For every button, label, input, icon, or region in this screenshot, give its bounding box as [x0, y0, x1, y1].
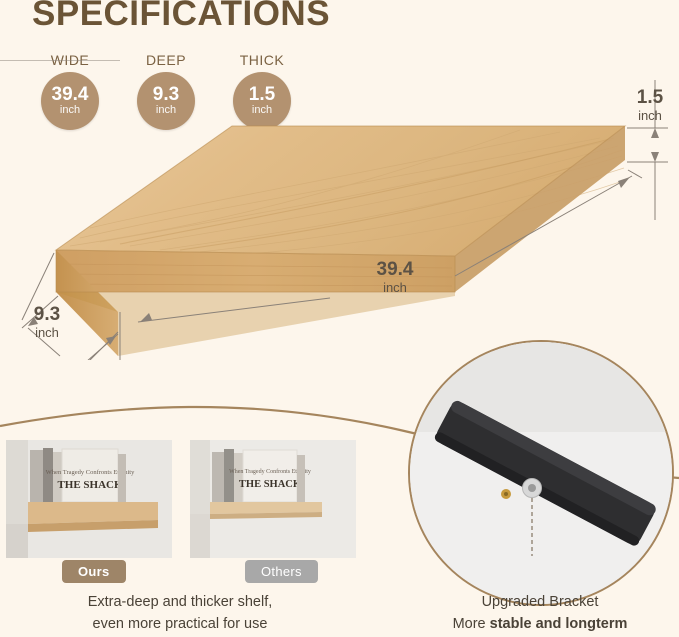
tag-others: Others [245, 560, 318, 583]
dimension-unit: inch [12, 326, 82, 340]
page-title: SPECIFICATIONS [32, 0, 330, 34]
dimension-label-depth: 9.3 inch [12, 305, 82, 340]
bracket-caption-line2-b: stable and longterm [490, 616, 628, 632]
shelf-illustration-svg [0, 60, 679, 360]
dimension-label-thickness: 1.5 inch [627, 88, 673, 123]
comparison-photo-others: When Tragedy Confronts Eternity THE SHAC… [190, 440, 356, 558]
others-shelf-photo: When Tragedy Confronts Eternity THE SHAC… [190, 440, 356, 558]
ours-shelf-photo: When Tragedy Confronts Eternity THE SHAC… [6, 440, 172, 558]
dimension-unit: inch [627, 109, 673, 123]
comparison-photo-ours: When Tragedy Confronts Eternity THE SHAC… [6, 440, 172, 558]
comparison-caption-line1: Extra-deep and thicker shelf, [0, 592, 360, 614]
dimension-value: 9.3 [12, 305, 82, 326]
bracket-photo [410, 342, 672, 604]
svg-text:THE SHACK: THE SHACK [57, 479, 123, 491]
bracket-caption: Upgraded Bracket More stable and longter… [420, 592, 660, 636]
page-root: SPECIFICATIONS WIDE 39.4 inch DEEP 9.3 i… [0, 0, 679, 637]
dimension-unit: inch [350, 281, 440, 295]
tag-ours: Ours [62, 560, 126, 583]
dimension-label-width: 39.4 inch [350, 260, 440, 295]
comparison-caption-line2: even more practical for use [0, 614, 360, 636]
bracket-closeup [408, 340, 674, 606]
comparison-tag-row: Ours Others [0, 560, 360, 584]
dimension-value: 1.5 [627, 88, 673, 109]
svg-text:THE SHACK: THE SHACK [239, 479, 302, 490]
comparison-caption: Extra-deep and thicker shelf, even more … [0, 592, 360, 636]
bracket-caption-line1: Upgraded Bracket [420, 592, 660, 614]
comparison-section: When Tragedy Confronts Eternity THE SHAC… [0, 440, 360, 575]
dimension-value: 39.4 [350, 260, 440, 281]
shelf-diagram: 1.5 inch 39.4 inch 9.3 inch [0, 60, 679, 360]
bracket-caption-line2-a: More [453, 616, 486, 632]
